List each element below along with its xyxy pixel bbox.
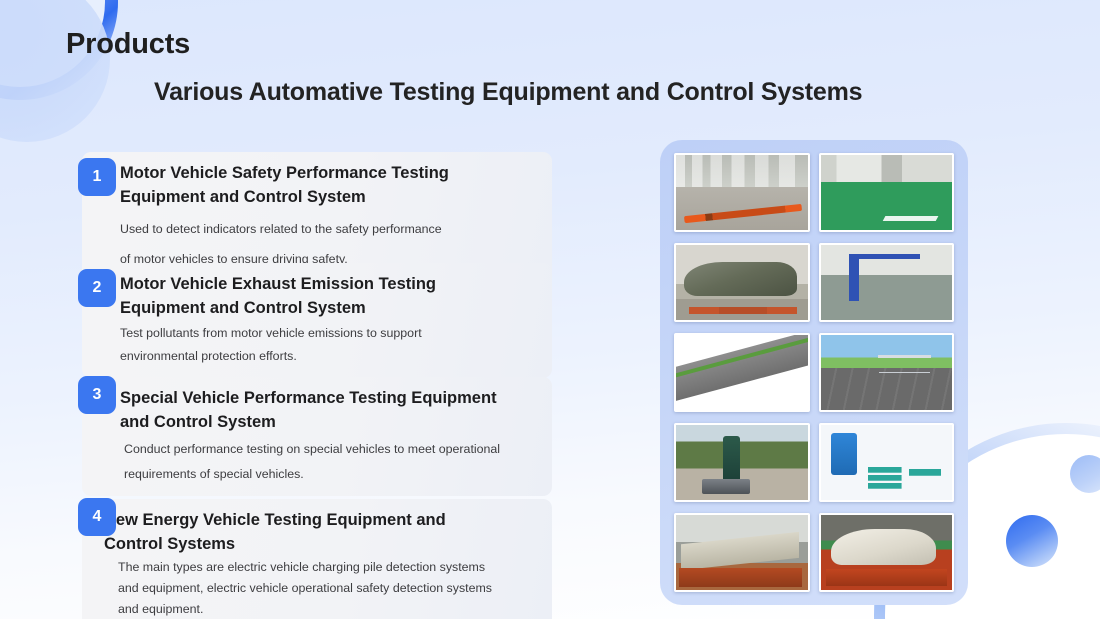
vehicle-inspection-hall-photo[interactable]: [674, 153, 810, 232]
bottom-right-small-circle-decoration: [1070, 455, 1100, 493]
sedan-on-test-rig-photo[interactable]: [819, 513, 955, 592]
feature-title-1: Motor Vehicle Safety Performance Testing: [118, 162, 538, 186]
feature-number-badge-1[interactable]: 1: [78, 158, 116, 196]
page-title: Products: [66, 28, 190, 61]
feature-card-2[interactable]: Motor Vehicle Exhaust Emission Testing E…: [82, 263, 552, 378]
top-left-circle-decoration: [0, 0, 110, 142]
feature-number-badge-4[interactable]: 4: [78, 498, 116, 536]
factory-equipment-line-photo[interactable]: [674, 513, 810, 592]
feature-title-2-line2: Equipment and Control System: [118, 297, 538, 321]
bottom-right-circle-decoration: [1006, 515, 1058, 567]
feature-title-4-line2: Control Systems: [104, 533, 538, 557]
feature-title-3-line2: and Control System: [120, 411, 538, 435]
feature-card-4[interactable]: New Energy Vehicle Testing Equipment and…: [82, 499, 552, 619]
blue-lift-workshop-photo[interactable]: [819, 243, 955, 322]
feature-title-4: New Energy Vehicle Testing Equipment and: [104, 509, 538, 533]
feature-title-2: Motor Vehicle Exhaust Emission Testing: [118, 273, 538, 297]
feature-number-badge-2[interactable]: 2: [78, 269, 116, 307]
page-subtitle: Various Automative Testing Equipment and…: [154, 78, 862, 107]
feature-card-1[interactable]: Motor Vehicle Safety Performance Testing…: [82, 152, 552, 281]
feature-desc-4-line3: and equipment.: [104, 599, 538, 619]
feature-desc-1: Used to detect indicators related to the…: [118, 219, 538, 239]
feature-desc-4: The main types are electric vehicle char…: [104, 557, 538, 577]
feature-title-1-line2: Equipment and Control System: [118, 186, 538, 210]
feature-desc-2: Test pollutants from motor vehicle emiss…: [118, 323, 538, 343]
feature-desc-3-line2: requirements of special vehicles.: [120, 464, 538, 484]
feature-desc-3: Conduct performance testing on special v…: [120, 439, 538, 459]
green-floor-workshop-photo[interactable]: [819, 153, 955, 232]
highway-gantry-render[interactable]: [819, 333, 955, 412]
outdoor-charging-pile-test-photo[interactable]: [674, 423, 810, 502]
isometric-road-diagram[interactable]: [674, 333, 810, 412]
photo-gallery-panel: [660, 140, 968, 605]
feature-desc-4-line2: and equipment, electric vehicle operatio…: [104, 578, 538, 598]
armored-vehicle-test-photo[interactable]: [674, 243, 810, 322]
feature-title-3: Special Vehicle Performance Testing Equi…: [120, 387, 538, 411]
feature-card-3[interactable]: Special Vehicle Performance Testing Equi…: [82, 377, 552, 496]
feature-desc-2-line2: environmental protection efforts.: [118, 346, 538, 366]
charging-detection-schematic[interactable]: [819, 423, 955, 502]
feature-number-badge-3[interactable]: 3: [78, 376, 116, 414]
